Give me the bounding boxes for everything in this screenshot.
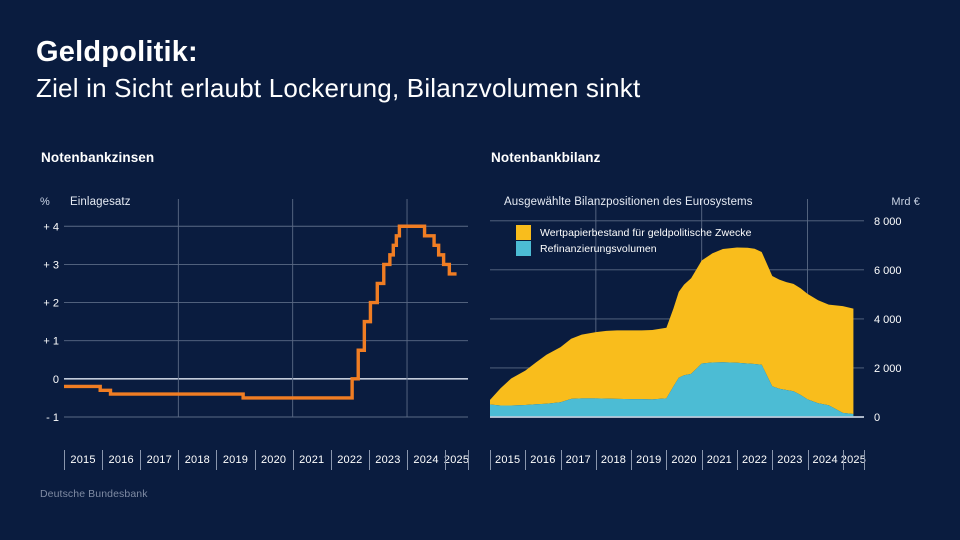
panel-right-title: Notenbankbilanz bbox=[491, 150, 926, 165]
xaxis-year-2023: 2023 bbox=[772, 447, 807, 473]
xaxis-year-2017: 2017 bbox=[561, 447, 596, 473]
legend-item-wertpapierbestand: Wertpapierbestand für geldpolitische Zwe… bbox=[516, 225, 751, 240]
xaxis-year-2025: 2025 bbox=[445, 447, 468, 473]
xaxis-year-2016: 2016 bbox=[102, 447, 140, 473]
xaxis-year-2019: 2019 bbox=[631, 447, 666, 473]
xaxis-year-2024: 2024 bbox=[808, 447, 843, 473]
right-series-label: Ausgewählte Bilanzpositionen des Eurosys… bbox=[504, 196, 753, 208]
xaxis-tick bbox=[331, 450, 332, 470]
xaxis-tick bbox=[864, 450, 865, 470]
xaxis-tick bbox=[255, 450, 256, 470]
xaxis-tick bbox=[468, 450, 469, 470]
xaxis-year-2023: 2023 bbox=[369, 447, 407, 473]
left-ytick-1: 0 bbox=[53, 374, 59, 386]
right-ytick-4: 8 000 bbox=[874, 216, 902, 228]
xaxis-tick bbox=[843, 450, 844, 470]
right-ytick-1: 2 000 bbox=[874, 363, 902, 375]
xaxis-year-2019: 2019 bbox=[216, 447, 254, 473]
xaxis-tick bbox=[808, 450, 809, 470]
legend-swatch-yellow bbox=[516, 225, 531, 240]
panel-left-title: Notenbankzinsen bbox=[41, 150, 476, 165]
xaxis-tick bbox=[102, 450, 103, 470]
deposit-rate-line bbox=[64, 226, 457, 398]
xaxis-tick bbox=[772, 450, 773, 470]
left-unit-label: % bbox=[40, 196, 50, 208]
xaxis-tick bbox=[64, 450, 65, 470]
right-ytick-3: 6 000 bbox=[874, 265, 902, 277]
xaxis-year-2015: 2015 bbox=[490, 447, 525, 473]
left-ytick-0: - 1 bbox=[46, 412, 59, 424]
left-series-label: Einlagesatz bbox=[70, 196, 131, 208]
xaxis-tick bbox=[525, 450, 526, 470]
xaxis-tick bbox=[561, 450, 562, 470]
xaxis-tick bbox=[666, 450, 667, 470]
slide-root: Geldpolitik: Ziel in Sicht erlaubt Locke… bbox=[0, 0, 960, 540]
xaxis-tick bbox=[178, 450, 179, 470]
right-unit-label: Mrd € bbox=[891, 196, 920, 208]
panel-notenbankbilanz: Notenbankbilanz Ausgewählte Bilanzpositi… bbox=[486, 150, 926, 493]
xaxis-year-2020: 2020 bbox=[255, 447, 293, 473]
xaxis-tick bbox=[293, 450, 294, 470]
chart-right-wrap: Ausgewählte Bilanzpositionen des Eurosys… bbox=[486, 193, 926, 493]
xaxis-tick bbox=[737, 450, 738, 470]
legend-label-wertpapierbestand: Wertpapierbestand für geldpolitische Zwe… bbox=[540, 227, 751, 239]
xaxis-year-2021: 2021 bbox=[702, 447, 737, 473]
xaxis-year-2018: 2018 bbox=[596, 447, 631, 473]
page-title: Geldpolitik: bbox=[36, 36, 916, 68]
xaxis-year-2020: 2020 bbox=[666, 447, 701, 473]
right-ytick-2: 4 000 bbox=[874, 314, 902, 326]
source-note: Deutsche Bundesbank bbox=[40, 488, 148, 500]
xaxis-year-2018: 2018 bbox=[178, 447, 216, 473]
xaxis-year-2016: 2016 bbox=[525, 447, 560, 473]
xaxis-tick bbox=[631, 450, 632, 470]
left-ytick-3: + 2 bbox=[43, 298, 59, 310]
left-ytick-5: + 4 bbox=[43, 221, 59, 233]
xaxis-year-2021: 2021 bbox=[293, 447, 331, 473]
legend-item-refinanzierungsvolumen: Refinanzierungsvolumen bbox=[516, 241, 751, 256]
xaxis-tick bbox=[140, 450, 141, 470]
legend-label-refinanzierungsvolumen: Refinanzierungsvolumen bbox=[540, 243, 657, 255]
xaxis-tick bbox=[407, 450, 408, 470]
xaxis-tick bbox=[369, 450, 370, 470]
xaxis-year-2024: 2024 bbox=[407, 447, 445, 473]
headline-block: Geldpolitik: Ziel in Sicht erlaubt Locke… bbox=[36, 36, 916, 104]
xaxis-tick bbox=[702, 450, 703, 470]
xaxis-tick bbox=[490, 450, 491, 470]
xaxis-year-2022: 2022 bbox=[737, 447, 772, 473]
left-ytick-4: + 3 bbox=[43, 259, 59, 271]
chart-left-xaxis: 2015201620172018201920202021202220232024… bbox=[36, 447, 476, 473]
page-subtitle: Ziel in Sicht erlaubt Lockerung, Bilanzv… bbox=[36, 72, 916, 104]
left-ytick-2: + 1 bbox=[43, 336, 59, 348]
xaxis-tick bbox=[596, 450, 597, 470]
legend-swatch-cyan bbox=[516, 241, 531, 256]
right-ytick-0: 0 bbox=[874, 412, 880, 424]
chart-legend: Wertpapierbestand für geldpolitische Zwe… bbox=[516, 225, 751, 257]
xaxis-year-2017: 2017 bbox=[140, 447, 178, 473]
area-wertpapierbestand bbox=[490, 248, 853, 415]
chart-right-xaxis: 2015201620172018201920202021202220232024… bbox=[486, 447, 926, 473]
chart-left-svg: - 10+ 1+ 2+ 3+ 4 bbox=[36, 193, 476, 443]
xaxis-year-2025: 2025 bbox=[843, 447, 864, 473]
xaxis-year-2015: 2015 bbox=[64, 447, 102, 473]
chart-left-wrap: % Einlagesatz - 10+ 1+ 2+ 3+ 4 201520162… bbox=[36, 193, 476, 493]
xaxis-tick bbox=[216, 450, 217, 470]
xaxis-tick bbox=[445, 450, 446, 470]
xaxis-year-2022: 2022 bbox=[331, 447, 369, 473]
panel-notenbankzinsen: Notenbankzinsen % Einlagesatz - 10+ 1+ 2… bbox=[36, 150, 476, 493]
